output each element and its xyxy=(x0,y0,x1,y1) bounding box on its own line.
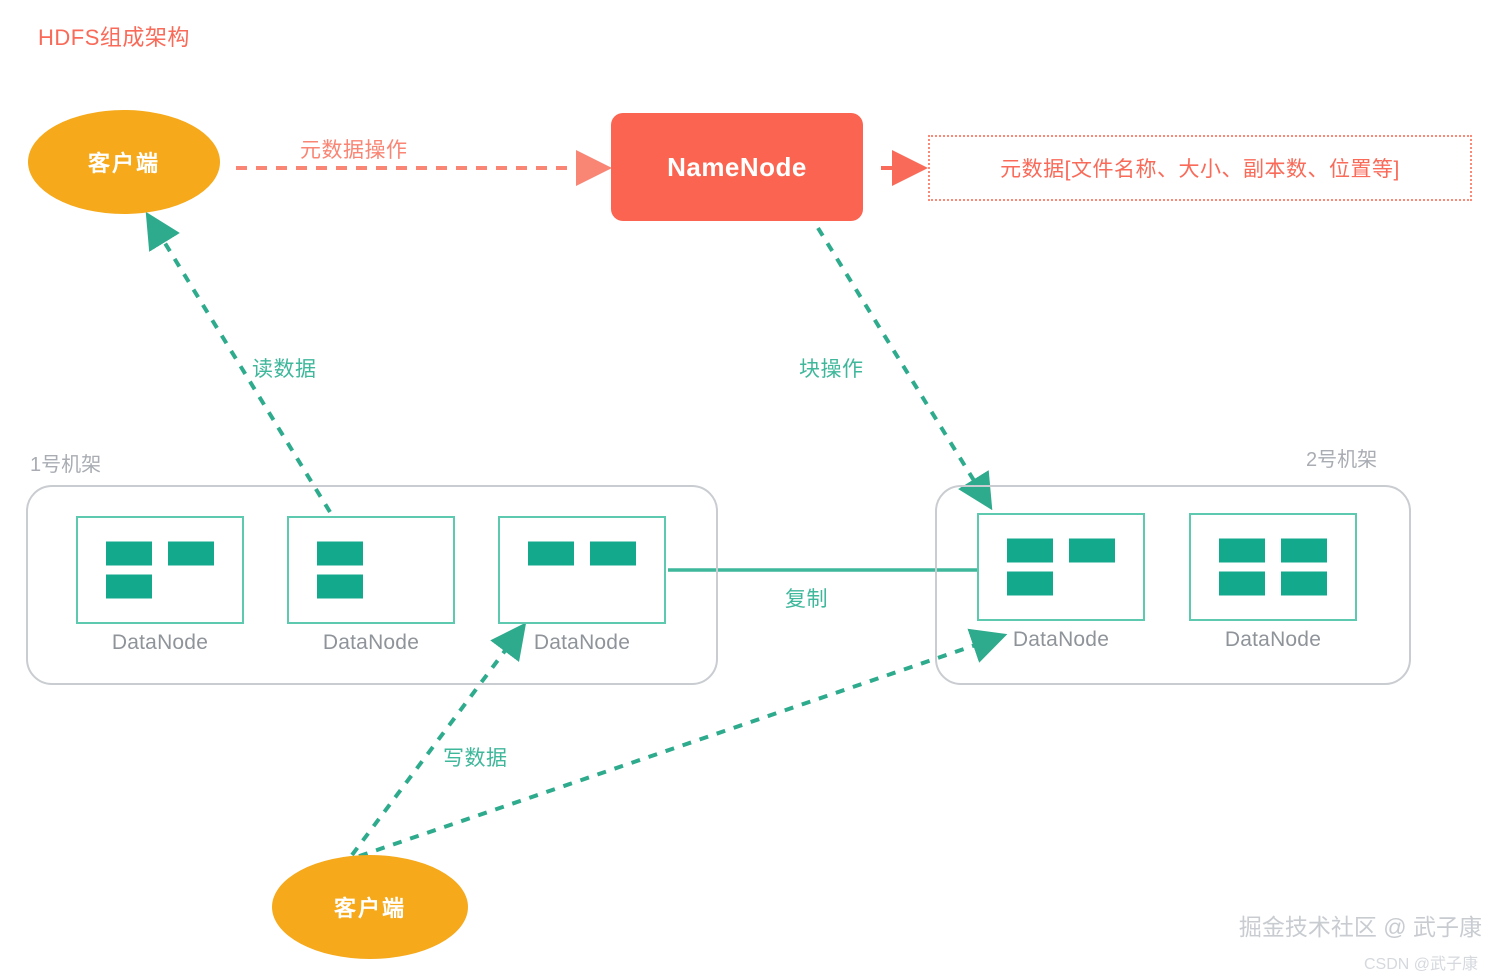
client-top-label: 客户端 xyxy=(88,146,160,178)
data-block xyxy=(1007,539,1053,563)
data-block xyxy=(317,542,363,566)
diagram-canvas: HDFS组成架构 元数据操作 读数据 块操作 xyxy=(0,0,1500,979)
data-block-empty xyxy=(528,575,574,599)
datanode-box xyxy=(977,513,1145,621)
datanode-rack1-1[interactable]: DataNode xyxy=(76,516,244,655)
data-block xyxy=(1069,539,1115,563)
datanode-label: DataNode xyxy=(498,631,666,655)
edge-label-replicate: 复制 xyxy=(785,583,828,613)
data-block xyxy=(106,575,152,599)
block-grid xyxy=(1007,539,1115,596)
block-grid xyxy=(1219,539,1327,596)
data-block xyxy=(168,542,214,566)
datanode-box xyxy=(287,516,455,624)
block-grid xyxy=(528,542,636,599)
namenode-node[interactable]: NameNode xyxy=(611,113,863,221)
data-block xyxy=(1281,572,1327,596)
datanode-box xyxy=(76,516,244,624)
datanode-rack2-1[interactable]: DataNode xyxy=(977,513,1145,652)
data-block-empty xyxy=(168,575,214,599)
data-block xyxy=(106,542,152,566)
edge-label-block-operation: 块操作 xyxy=(799,353,864,383)
data-block-empty xyxy=(1069,572,1115,596)
block-grid xyxy=(106,542,214,599)
block-grid xyxy=(317,542,425,599)
metadata-box: 元数据[文件名称、大小、副本数、位置等] xyxy=(928,135,1472,201)
datanode-label: DataNode xyxy=(76,631,244,655)
datanode-box xyxy=(1189,513,1357,621)
datanode-box xyxy=(498,516,666,624)
datanode-rack1-2[interactable]: DataNode xyxy=(287,516,455,655)
datanode-label: DataNode xyxy=(287,631,455,655)
edge-label-read-data: 读数据 xyxy=(252,353,317,383)
datanode-rack1-3[interactable]: DataNode xyxy=(498,516,666,655)
namenode-label: NameNode xyxy=(667,152,807,183)
client-bottom-label: 客户端 xyxy=(334,891,406,923)
client-node-top[interactable]: 客户端 xyxy=(28,110,220,214)
data-block xyxy=(1219,539,1265,563)
datanode-rack2-2[interactable]: DataNode xyxy=(1189,513,1357,652)
datanode-label: DataNode xyxy=(1189,628,1357,652)
datanode-label: DataNode xyxy=(977,628,1145,652)
page-title: HDFS组成架构 xyxy=(38,20,190,52)
data-block xyxy=(590,542,636,566)
client-node-bottom[interactable]: 客户端 xyxy=(272,855,468,959)
watermark-secondary: CSDN @武子康 xyxy=(1364,950,1478,974)
edge-label-write-data: 写数据 xyxy=(443,742,508,772)
rack-2-label: 2号机架 xyxy=(1306,443,1377,472)
data-block-empty xyxy=(379,542,425,566)
data-block xyxy=(1007,572,1053,596)
edge-label-metadata-operation: 元数据操作 xyxy=(300,134,408,164)
data-block-empty xyxy=(379,575,425,599)
data-block xyxy=(1219,572,1265,596)
data-block xyxy=(1281,539,1327,563)
data-block xyxy=(528,542,574,566)
rack-1-label: 1号机架 xyxy=(30,448,101,477)
data-block xyxy=(317,575,363,599)
data-block-empty xyxy=(590,575,636,599)
metadata-label: 元数据[文件名称、大小、副本数、位置等] xyxy=(1000,153,1400,183)
watermark-primary: 掘金技术社区 @ 武子康 xyxy=(1239,908,1482,942)
